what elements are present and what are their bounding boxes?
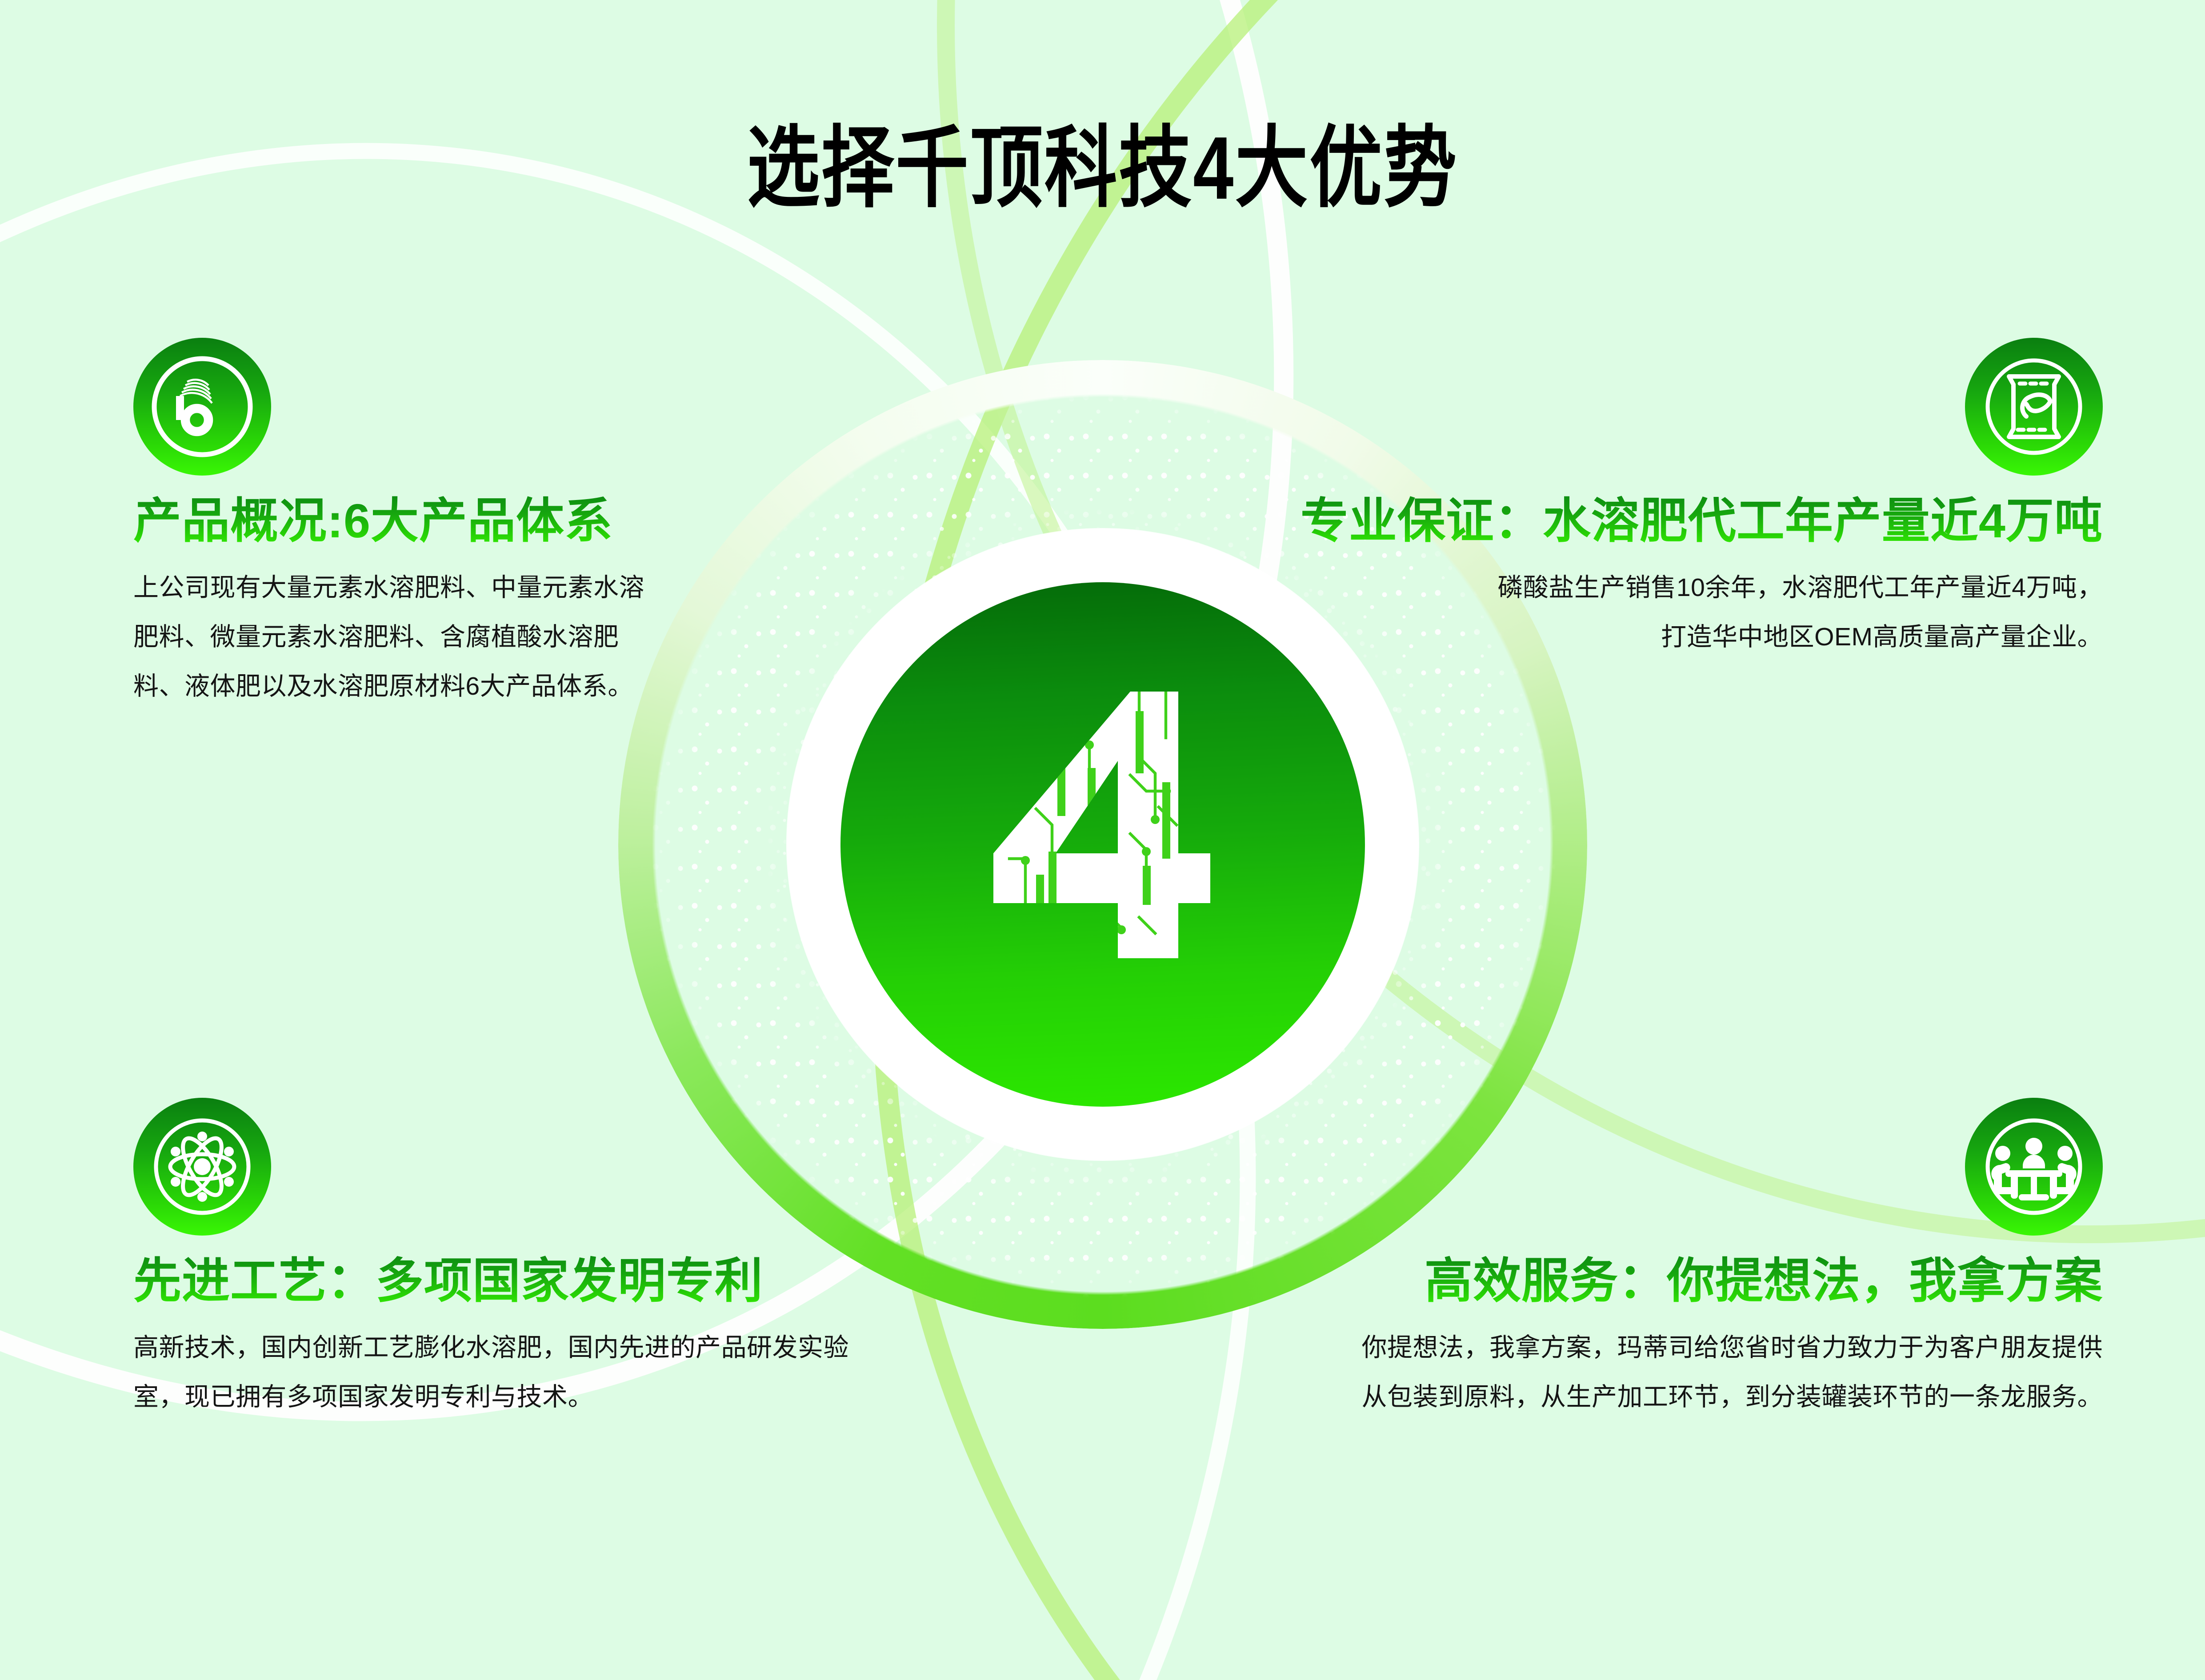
atom-icon [133, 1098, 271, 1236]
meeting-team-icon [1965, 1098, 2103, 1236]
feature-body: 磷酸盐生产销售10余年，水溶肥代工年产量近4万吨，打造华中地区OEM高质量高产量… [1476, 563, 2103, 662]
feature-body: 上公司现有大量元素水溶肥料、中量元素水溶肥料、微量元素水溶肥料、含腐植酸水溶肥料… [133, 563, 658, 711]
feature-heading: 专业保证：水溶肥代工年产量近4万吨 [1241, 494, 2103, 548]
advantages-infographic: 选择千顶科技4大优势 [0, 0, 2205, 1680]
number-6-rings-icon [133, 338, 271, 476]
feature-heading: 产品概况:6大产品体系 [133, 494, 782, 548]
feature-professional-guarantee[interactable]: 专业保证：水溶肥代工年产量近4万吨 磷酸盐生产销售10余年，水溶肥代工年产量近4… [1241, 338, 2103, 662]
fertilizer-bag-glyph [1976, 349, 2092, 464]
number-6-rings-glyph [144, 349, 260, 464]
atom-glyph [144, 1109, 260, 1224]
meeting-team-glyph [1976, 1109, 2092, 1224]
feature-heading: 先进工艺：多项国家发明专利 [133, 1254, 898, 1308]
feature-product-overview[interactable]: 产品概况:6大产品体系 上公司现有大量元素水溶肥料、中量元素水溶肥料、微量元素水… [133, 338, 782, 711]
feature-efficient-service[interactable]: 高效服务：你提想法，我拿方案 你提想法，我拿方案，玛蒂司给您省时省力致力于为客户… [1312, 1098, 2103, 1422]
fertilizer-bag-icon [1965, 338, 2103, 476]
circuit-number-4-icon [956, 676, 1249, 1013]
feature-heading: 高效服务：你提想法，我拿方案 [1312, 1254, 2103, 1308]
feature-body: 你提想法，我拿方案，玛蒂司给您省时省力致力于为客户朋友提供从包装到原料，从生产加… [1347, 1323, 2103, 1422]
page-title: 选择千顶科技4大优势 [198, 96, 2006, 224]
feature-body: 高新技术，国内创新工艺膨化水溶肥，国内先进的产品研发实验室，现已拥有多项国家发明… [133, 1323, 871, 1422]
feature-advanced-process[interactable]: 先进工艺：多项国家发明专利 高新技术，国内创新工艺膨化水溶肥，国内先进的产品研发… [133, 1098, 898, 1422]
